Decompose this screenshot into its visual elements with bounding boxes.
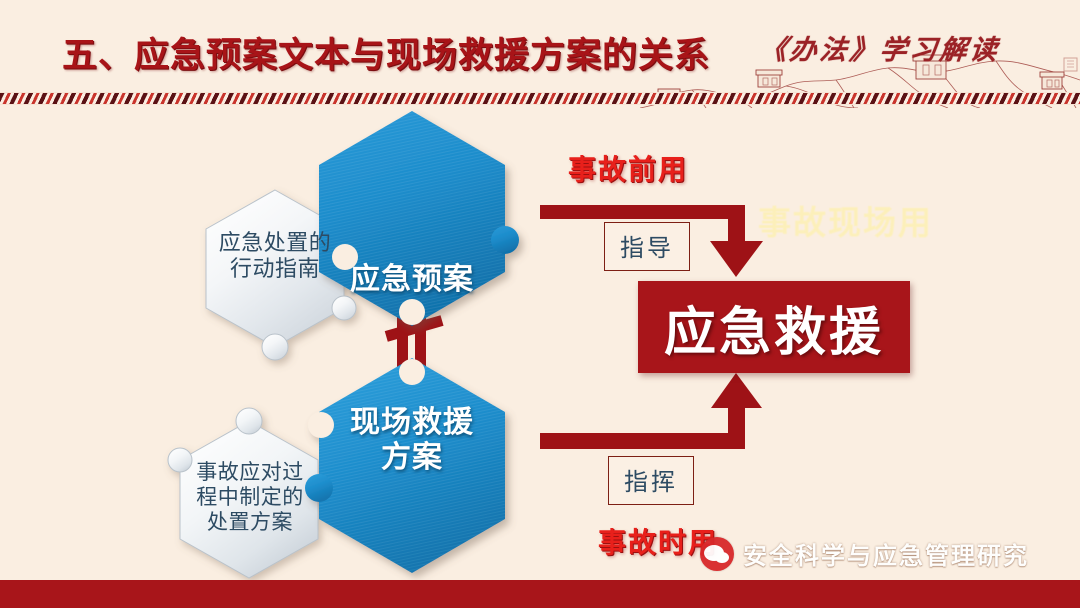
header-subtitle: 《办法》学习解读 [758,28,1002,67]
arrow-command [540,373,762,449]
slide-header: 五、应急预案文本与现场救援方案的关系 《办法》学习解读 [0,0,1080,110]
page-title: 五、应急预案文本与现场救援方案的关系 [62,27,710,78]
wechat-icon [700,537,734,571]
channel-watermark: 安全科学与应急管理研究 [700,536,1029,571]
hexagon-rescue-primary [305,358,505,573]
bottom-bar [0,580,1080,608]
tag-command: 指挥 [608,456,694,505]
hexagon-rescue-support [168,408,318,578]
relationship-diagram: 应急预案 应急处置的 行动指南 现场救援 方案 事故应对过 程中制定的 处置方案 [0,105,1080,580]
hexagon-plan-primary [319,111,519,326]
emergency-rescue-label: 应急救援 [664,290,884,365]
emergency-rescue-highlight: 应急救援 [638,281,910,373]
ghost-caption: 事故现场用 [758,196,933,244]
caption-before-incident: 事故前用 [568,148,688,188]
tag-guide: 指导 [604,222,690,271]
header-divider [0,92,1080,105]
diagram-canvas [0,105,1080,580]
watermark-label: 安全科学与应急管理研究 [743,536,1029,571]
